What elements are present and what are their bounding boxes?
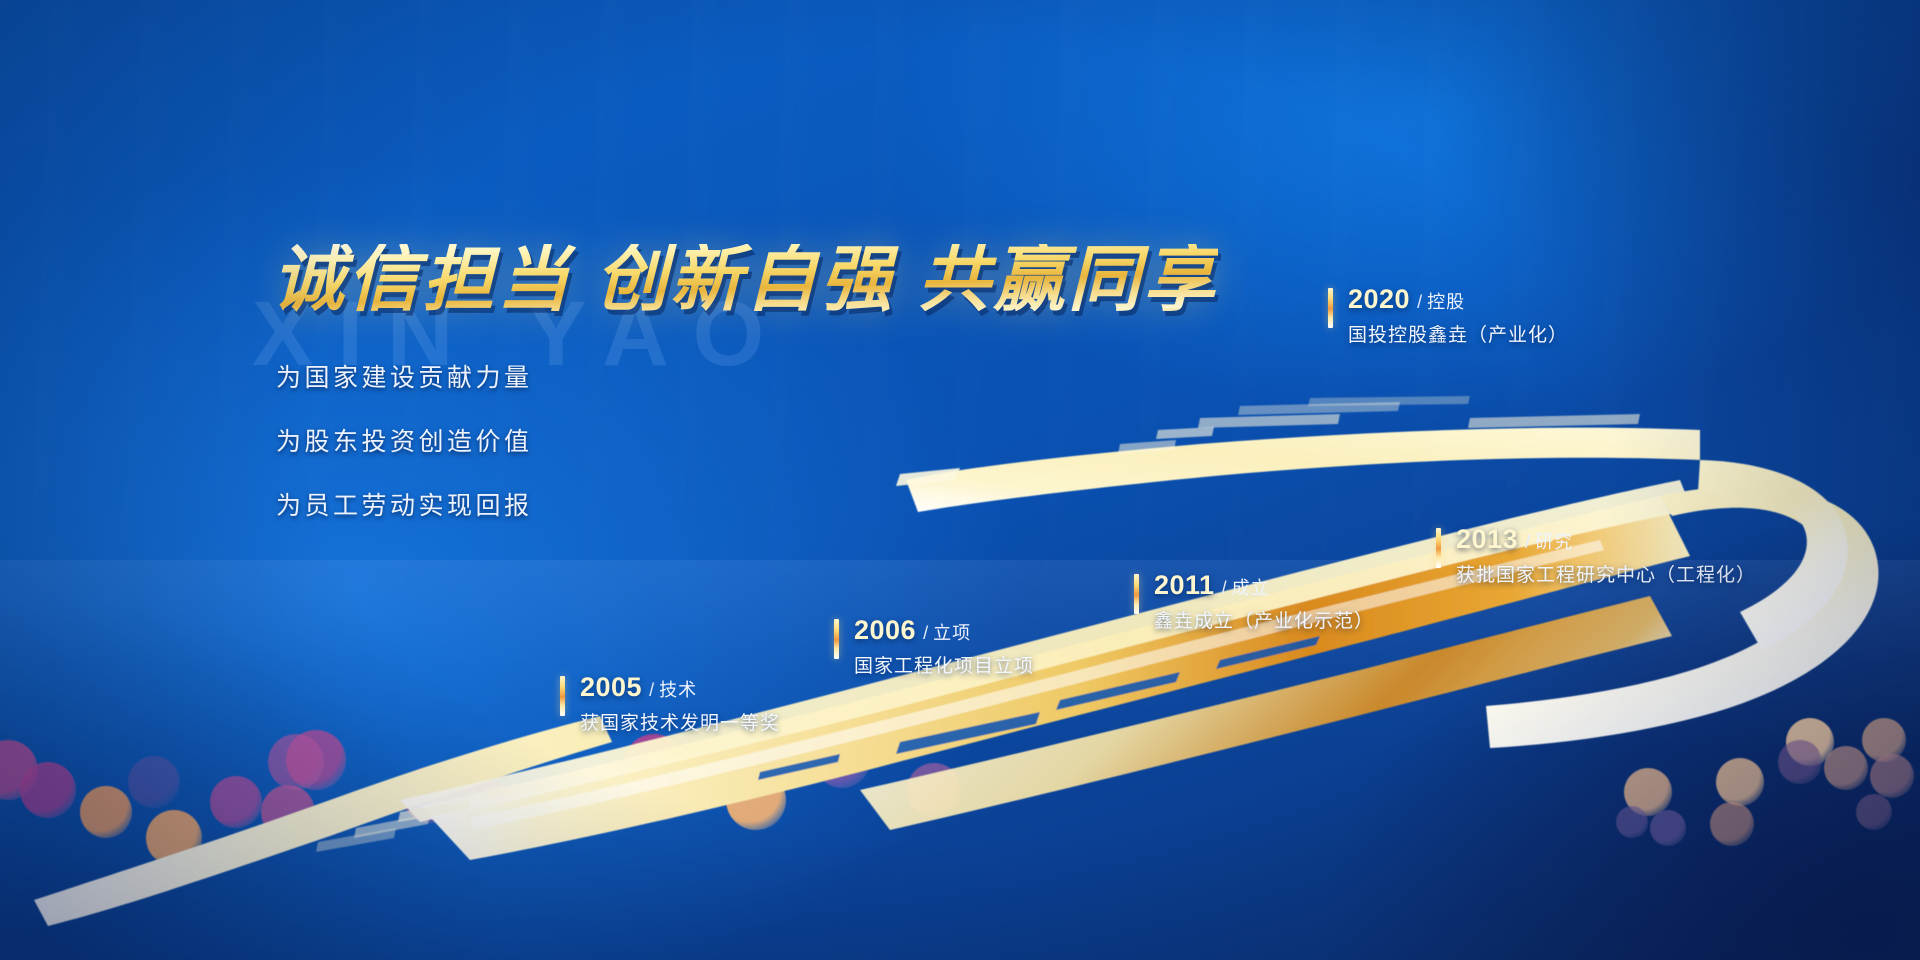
banner-canvas: XIN YAO 诚信担当 创新自强 共赢同享 为国家建设贡献力量为股东投资创造价… bbox=[0, 0, 1920, 960]
background-vignette bbox=[0, 0, 1920, 960]
